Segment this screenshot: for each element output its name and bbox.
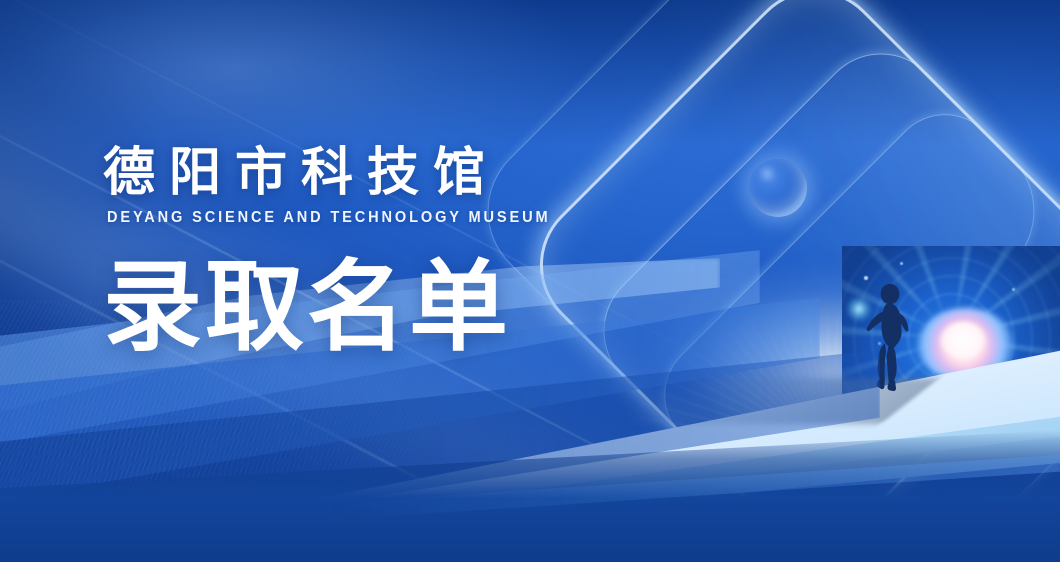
headline: 录取名单: [103, 257, 579, 356]
banner: 德阳市科技馆 DEYANG SCIENCE AND TECHNOLOGY MUS…: [0, 0, 1060, 562]
glowing-sphere-icon: [749, 159, 807, 217]
sphere-highlight: [757, 166, 777, 181]
vortex-spark: [1012, 288, 1015, 291]
vortex-spark: [864, 276, 868, 280]
vortex-spark: [900, 262, 903, 265]
organization-title: 德阳市科技馆: [103, 144, 579, 202]
title-block: 德阳市科技馆 DEYANG SCIENCE AND TECHNOLOGY MUS…: [103, 144, 579, 356]
vortex-core-hotspot: [940, 322, 986, 358]
organization-subtitle: DEYANG SCIENCE AND TECHNOLOGY MUSEUM: [107, 210, 550, 226]
